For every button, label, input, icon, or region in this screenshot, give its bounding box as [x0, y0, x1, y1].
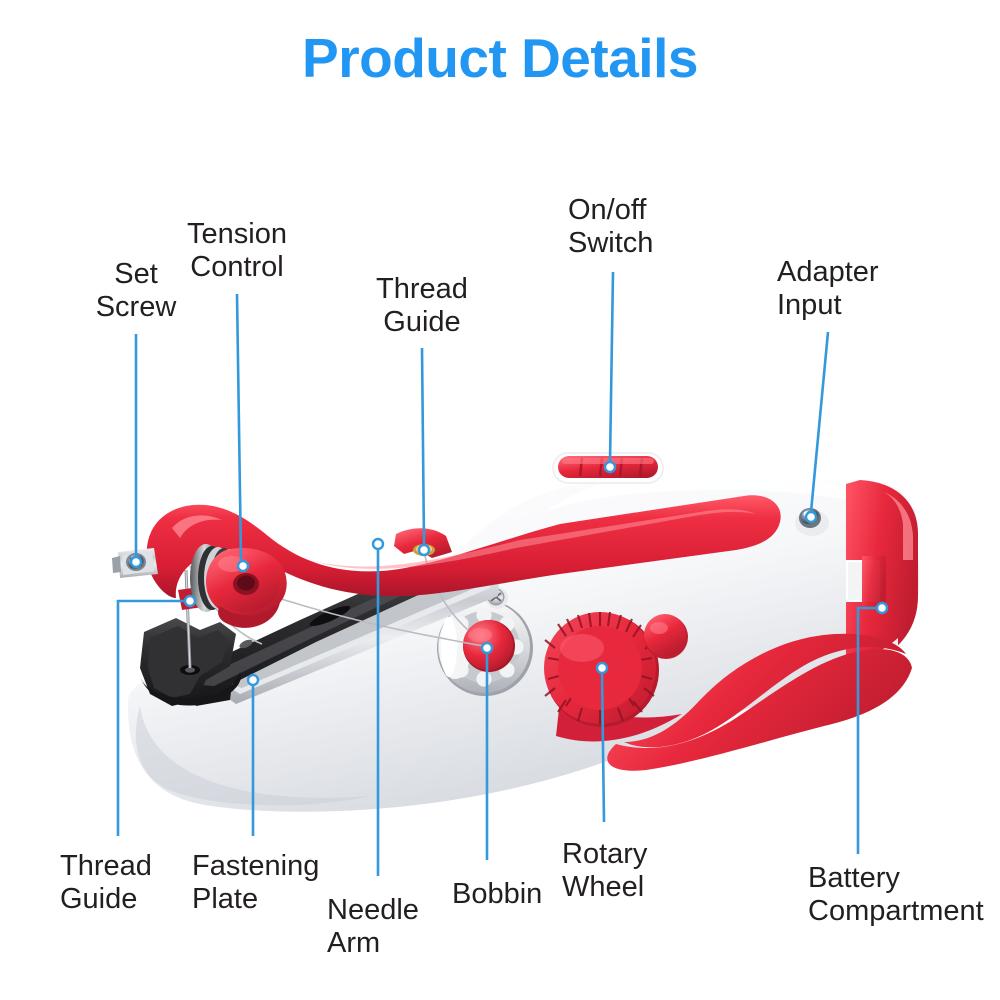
callout-needle-arm: Needle Arm: [327, 894, 419, 960]
tension-control[interactable]: [190, 544, 287, 628]
set-screw[interactable]: [112, 548, 158, 578]
callout-on-off-switch: On/off Switch: [568, 194, 653, 260]
battery-compartment[interactable]: [846, 480, 918, 678]
callout-bobbin: Bobbin: [452, 878, 542, 911]
callout-fastening-plate: Fastening Plate: [192, 850, 319, 916]
callout-tension-control: Tension Control: [187, 218, 287, 284]
callout-adapter-input: Adapter Input: [777, 256, 879, 322]
thread-guide-top[interactable]: [394, 528, 452, 558]
callout-thread-guide-bottom: Thread Guide: [60, 850, 152, 916]
product-details-diagram: Product Details: [0, 0, 1000, 1000]
on-off-switch[interactable]: [552, 452, 664, 484]
callout-thread-guide-top: Thread Guide: [376, 273, 468, 339]
callout-rotary-wheel: Rotary Wheel: [562, 838, 647, 904]
callout-set-screw: Set Screw: [96, 258, 177, 324]
callout-battery-compartment: Battery Compartment: [808, 862, 984, 928]
rotary-wheel[interactable]: [544, 612, 659, 727]
